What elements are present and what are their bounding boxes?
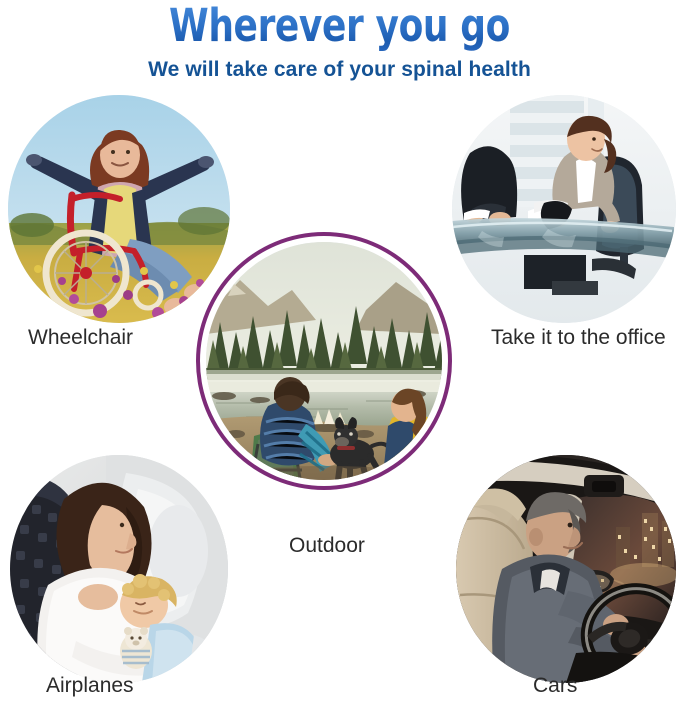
photo-cars <box>456 455 676 683</box>
car-photo-illustration <box>456 455 676 683</box>
header-banner: Wherever you go We will take care of you… <box>0 0 679 90</box>
airplane-photo-illustration <box>10 455 228 683</box>
office-photo-illustration <box>452 95 676 323</box>
tile-label-cars: Cars <box>533 674 577 698</box>
photo-airplanes <box>10 455 228 683</box>
photo-wheelchair <box>8 95 230 323</box>
photo-office <box>452 95 676 323</box>
photo-outdoor <box>206 242 442 480</box>
page-title: Wherever you go <box>68 0 611 52</box>
tile-label-office: Take it to the office <box>491 326 666 350</box>
tile-label-wheelchair: Wheelchair <box>28 326 133 350</box>
outdoor-photo-illustration <box>206 242 442 480</box>
page-subtitle: We will take care of your spinal health <box>0 58 679 82</box>
wheelchair-photo-illustration <box>8 95 230 323</box>
tile-label-outdoor: Outdoor <box>289 534 365 558</box>
tile-label-airplanes: Airplanes <box>46 674 134 698</box>
